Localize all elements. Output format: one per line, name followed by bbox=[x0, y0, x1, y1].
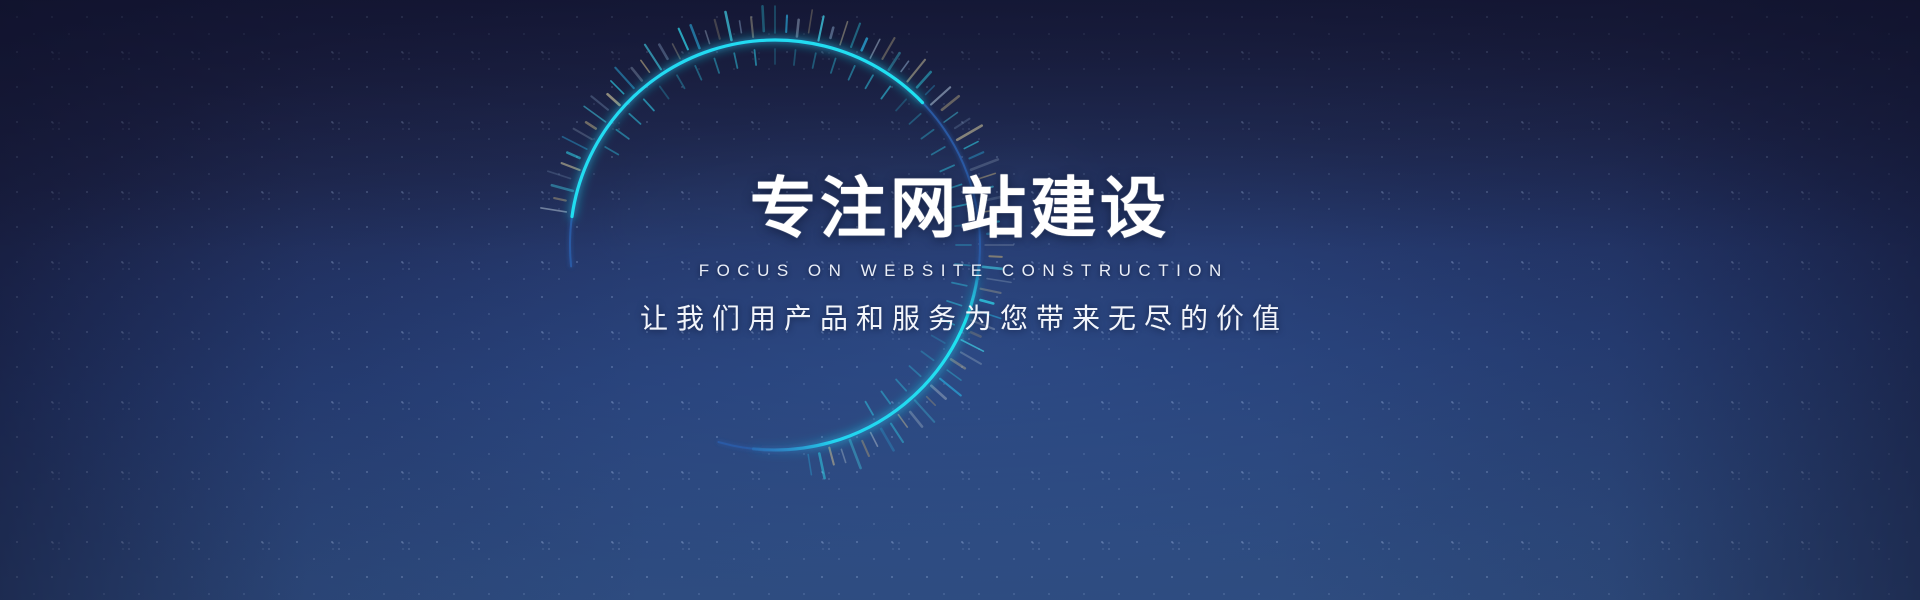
hero-tagline: 让我们用产品和服务为您带来无尽的价值 bbox=[0, 305, 1920, 333]
hero-subheadline-english: FOCUS ON WEBSITE CONSTRUCTION bbox=[0, 262, 1920, 279]
hero-banner: 专注网站建设 FOCUS ON WEBSITE CONSTRUCTION 让我们… bbox=[0, 0, 1920, 600]
hero-copy-block: 专注网站建设 FOCUS ON WEBSITE CONSTRUCTION 让我们… bbox=[0, 176, 1920, 333]
hero-headline: 专注网站建设 bbox=[0, 176, 1920, 242]
